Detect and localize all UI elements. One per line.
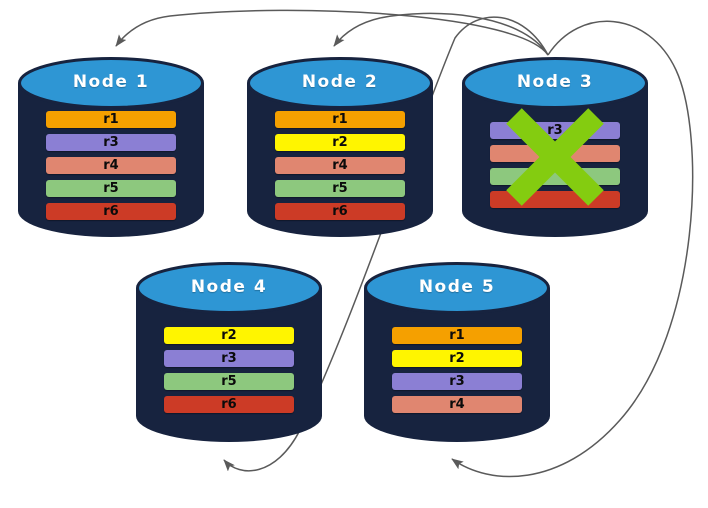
node-2-row-r5: r5 [275, 180, 405, 197]
node-4-row-r6-label: r6 [164, 396, 294, 413]
diagram-canvas: Node 1 r1r3r4r5r6 Node 2 r1r2r4r5r6 Node… [0, 0, 708, 508]
node-3-label: Node 3 [462, 72, 648, 92]
node-3-row-r6-label [490, 191, 620, 208]
node-1-row-r4-label: r4 [46, 157, 176, 174]
edge-node3-to-node1 [116, 10, 548, 55]
node-5-row-r4: r4 [392, 396, 522, 413]
node-3-row-r3-label: r3 [490, 122, 620, 139]
node-3-row-r5-label [490, 168, 620, 185]
node-3-rows: r3 [462, 122, 648, 208]
node-4-row-r3: r3 [164, 350, 294, 367]
node-3[interactable]: Node 3 r3 [462, 57, 648, 237]
node-1-row-r5: r5 [46, 180, 176, 197]
edge-node3-to-node2 [334, 13, 548, 55]
node-1[interactable]: Node 1 r1r3r4r5r6 [18, 57, 204, 237]
node-4-row-r5-label: r5 [164, 373, 294, 390]
node-2-rows: r1r2r4r5r6 [247, 111, 433, 220]
node-3-row-r4 [490, 145, 620, 162]
node-3-row-r4-label [490, 145, 620, 162]
node-2-label: Node 2 [247, 72, 433, 92]
node-4-row-r2-label: r2 [164, 327, 294, 344]
node-3-row-r5 [490, 168, 620, 185]
node-1-row-r5-label: r5 [46, 180, 176, 197]
node-1-row-r4: r4 [46, 157, 176, 174]
node-4-rows: r2r3r5r6 [136, 327, 322, 413]
node-4-row-r5: r5 [164, 373, 294, 390]
node-2-row-r5-label: r5 [275, 180, 405, 197]
node-2-row-r6-label: r6 [275, 203, 405, 220]
node-1-rows: r1r3r4r5r6 [18, 111, 204, 220]
node-5-row-r2: r2 [392, 350, 522, 367]
node-1-row-r6-label: r6 [46, 203, 176, 220]
node-4-row-r2: r2 [164, 327, 294, 344]
node-5-row-r2-label: r2 [392, 350, 522, 367]
node-5-row-r3: r3 [392, 373, 522, 390]
node-1-row-r1-label: r1 [46, 111, 176, 128]
node-5-row-r3-label: r3 [392, 373, 522, 390]
node-1-row-r1: r1 [46, 111, 176, 128]
node-1-row-r3: r3 [46, 134, 176, 151]
node-2-row-r4-label: r4 [275, 157, 405, 174]
node-5-row-r1: r1 [392, 327, 522, 344]
node-2-row-r4: r4 [275, 157, 405, 174]
node-5-row-r4-label: r4 [392, 396, 522, 413]
node-4-label: Node 4 [136, 277, 322, 297]
node-1-row-r3-label: r3 [46, 134, 176, 151]
node-5-rows: r1r2r3r4 [364, 327, 550, 413]
node-5[interactable]: Node 5 r1r2r3r4 [364, 262, 550, 442]
node-3-row-r3: r3 [490, 122, 620, 139]
node-5-label: Node 5 [364, 277, 550, 297]
node-2-row-r1-label: r1 [275, 111, 405, 128]
node-2[interactable]: Node 2 r1r2r4r5r6 [247, 57, 433, 237]
node-4-row-r3-label: r3 [164, 350, 294, 367]
node-5-row-r1-label: r1 [392, 327, 522, 344]
node-4-row-r6: r6 [164, 396, 294, 413]
node-1-row-r6: r6 [46, 203, 176, 220]
node-1-label: Node 1 [18, 72, 204, 92]
node-3-row-r6 [490, 191, 620, 208]
node-2-row-r2: r2 [275, 134, 405, 151]
node-4[interactable]: Node 4 r2r3r5r6 [136, 262, 322, 442]
node-2-row-r2-label: r2 [275, 134, 405, 151]
node-2-row-r1: r1 [275, 111, 405, 128]
node-2-row-r6: r6 [275, 203, 405, 220]
